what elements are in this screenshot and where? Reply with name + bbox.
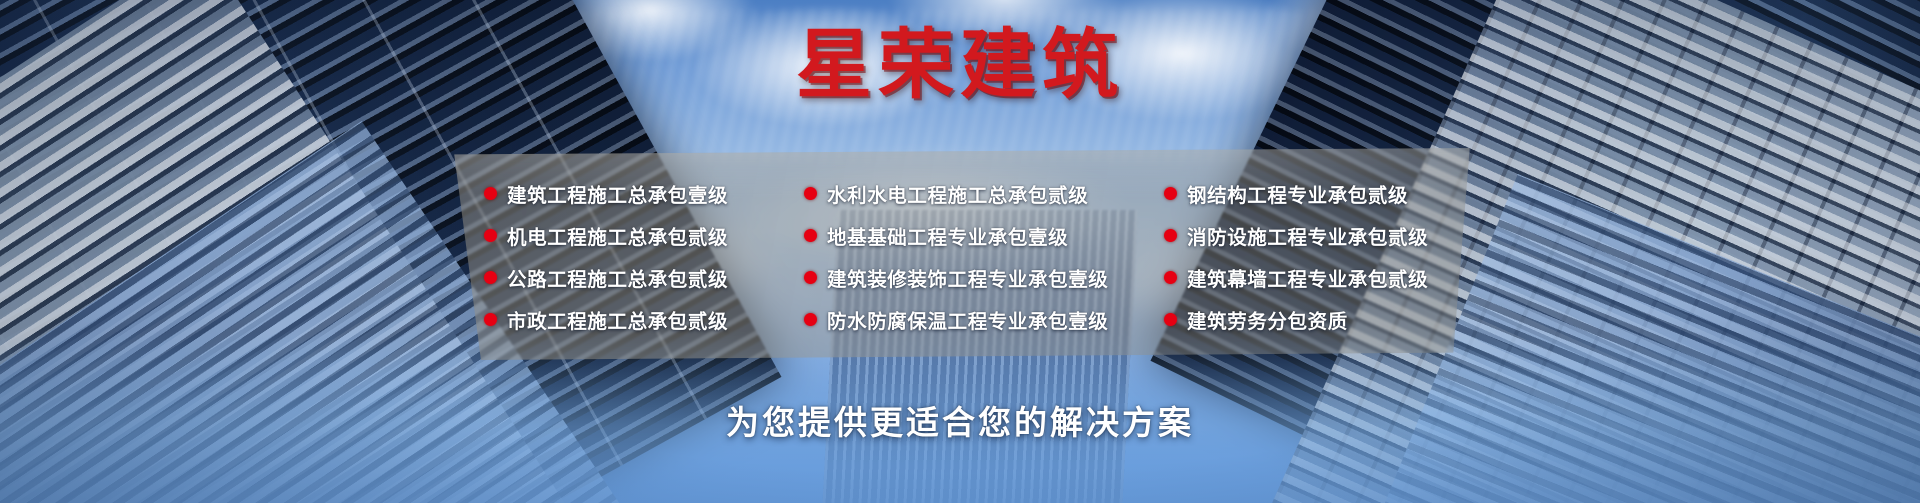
list-item: 防水防腐保温工程专业承包壹级 bbox=[804, 300, 1164, 338]
red-dot-icon bbox=[1164, 313, 1177, 326]
list-item: 建筑幕墙工程专业承包贰级 bbox=[1164, 258, 1484, 296]
red-dot-icon bbox=[804, 187, 817, 200]
qualification-label: 建筑工程施工总承包壹级 bbox=[507, 179, 728, 208]
list-item: 公路工程施工总承包贰级 bbox=[484, 258, 804, 296]
qualifications-columns: 建筑工程施工总承包壹级 机电工程施工总承包贰级 公路工程施工总承包贰级 市政工程… bbox=[448, 148, 1478, 360]
list-item: 水利水电工程施工总承包贰级 bbox=[804, 174, 1164, 212]
red-dot-icon bbox=[484, 313, 497, 326]
qualification-label: 建筑幕墙工程专业承包贰级 bbox=[1187, 263, 1428, 292]
list-item: 建筑工程施工总承包壹级 bbox=[484, 174, 804, 212]
page-title: 星荣建筑 bbox=[0, 26, 1920, 106]
list-item: 市政工程施工总承包贰级 bbox=[484, 300, 804, 338]
qualification-column-3: 钢结构工程专业承包贰级 消防设施工程专业承包贰级 建筑幕墙工程专业承包贰级 建筑… bbox=[1164, 174, 1484, 338]
list-item: 钢结构工程专业承包贰级 bbox=[1164, 174, 1484, 212]
red-dot-icon bbox=[804, 271, 817, 284]
qualification-label: 机电工程施工总承包贰级 bbox=[507, 221, 728, 250]
list-item: 消防设施工程专业承包贰级 bbox=[1164, 216, 1484, 254]
red-dot-icon bbox=[484, 271, 497, 284]
red-dot-icon bbox=[804, 229, 817, 242]
qualification-label: 建筑劳务分包资质 bbox=[1187, 305, 1348, 334]
qualification-label: 水利水电工程施工总承包贰级 bbox=[827, 179, 1088, 208]
list-item: 机电工程施工总承包贰级 bbox=[484, 216, 804, 254]
red-dot-icon bbox=[1164, 229, 1177, 242]
qualification-label: 建筑装修装饰工程专业承包壹级 bbox=[827, 263, 1108, 292]
red-dot-icon bbox=[804, 313, 817, 326]
hero-banner: 星荣建筑 建筑工程施工总承包壹级 机电工程施工总承包贰级 公路工程施工总承包贰级 bbox=[0, 0, 1920, 503]
list-item: 建筑装修装饰工程专业承包壹级 bbox=[804, 258, 1164, 296]
qualification-label: 公路工程施工总承包贰级 bbox=[507, 263, 728, 292]
list-item: 建筑劳务分包资质 bbox=[1164, 300, 1484, 338]
qualification-label: 市政工程施工总承包贰级 bbox=[507, 305, 728, 334]
qualification-label: 地基基础工程专业承包壹级 bbox=[827, 221, 1068, 250]
red-dot-icon bbox=[1164, 187, 1177, 200]
qualification-label: 消防设施工程专业承包贰级 bbox=[1187, 221, 1428, 250]
qualification-column-2: 水利水电工程施工总承包贰级 地基基础工程专业承包壹级 建筑装修装饰工程专业承包壹… bbox=[804, 174, 1164, 338]
red-dot-icon bbox=[484, 229, 497, 242]
red-dot-icon bbox=[1164, 271, 1177, 284]
qualification-label: 防水防腐保温工程专业承包壹级 bbox=[827, 305, 1108, 334]
list-item: 地基基础工程专业承包壹级 bbox=[804, 216, 1164, 254]
qualification-label: 钢结构工程专业承包贰级 bbox=[1187, 179, 1408, 208]
qualification-column-1: 建筑工程施工总承包壹级 机电工程施工总承包贰级 公路工程施工总承包贰级 市政工程… bbox=[484, 174, 804, 338]
red-dot-icon bbox=[484, 187, 497, 200]
banner-tagline: 为您提供更适合您的解决方案 bbox=[0, 396, 1920, 444]
qualifications-panel: 建筑工程施工总承包壹级 机电工程施工总承包贰级 公路工程施工总承包贰级 市政工程… bbox=[448, 148, 1478, 360]
